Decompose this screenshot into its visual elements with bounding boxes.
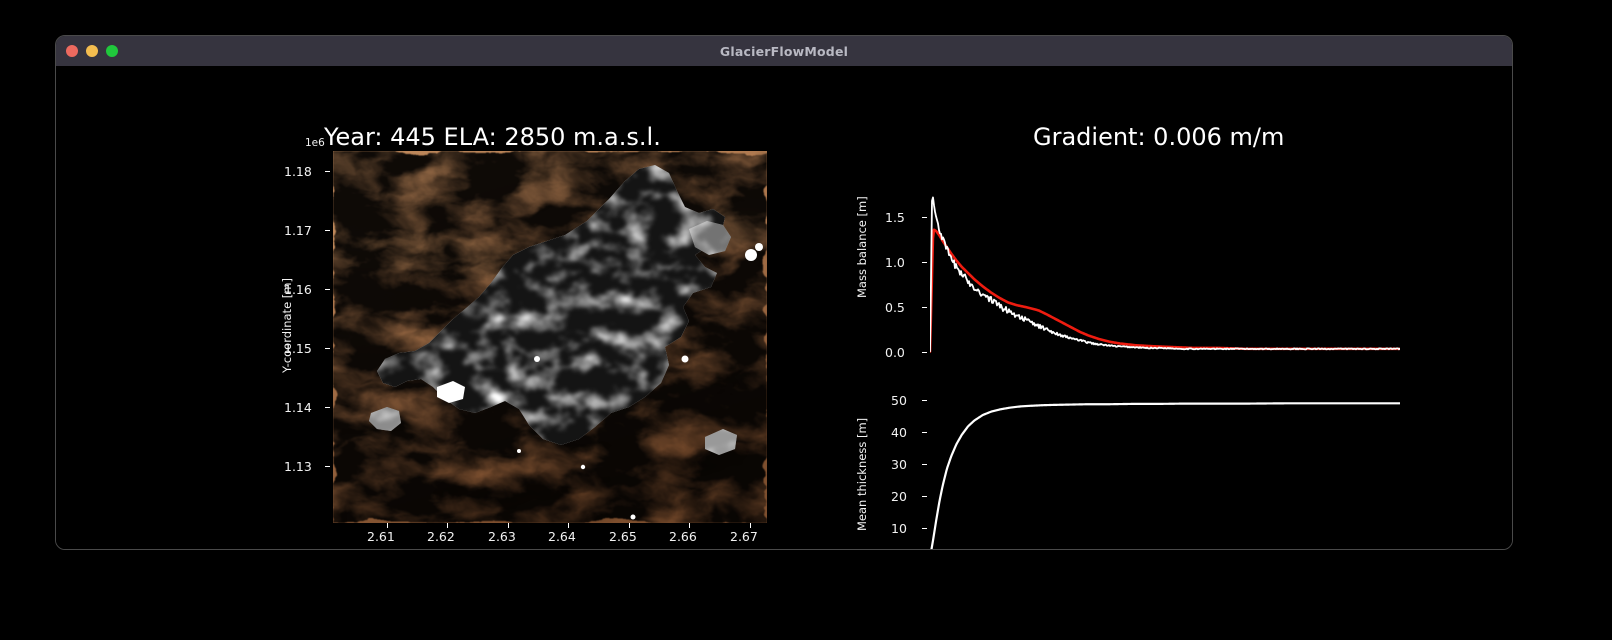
- th-ytick-1: 10: [891, 521, 907, 536]
- mean-thickness-plot-area[interactable]: [930, 395, 1400, 550]
- mean-thickness-svg: [930, 395, 1400, 550]
- mass-balance-panel: Gradient: 0.006 m/m Mass balance [m] 1.5…: [851, 123, 1421, 363]
- map-ytick-mark-1: [325, 230, 330, 231]
- map-ytick-1: 1.17: [284, 223, 312, 238]
- map-x-offset-label: 1e6: [736, 548, 756, 550]
- mb-ytick-mark-1: [922, 307, 927, 308]
- window-title: GlacierFlowModel: [720, 44, 848, 59]
- map-ytick-mark-5: [325, 466, 330, 467]
- th-ytick-mark-1: [922, 528, 927, 529]
- map-ytick-0: 1.18: [284, 164, 312, 179]
- map-xtick-mark-5: [689, 523, 690, 528]
- th-ytick-mark-5: [922, 400, 927, 401]
- th-ytick-mark-4: [922, 432, 927, 433]
- map-xtick-2: 2.63: [488, 529, 516, 544]
- map-xtick-5: 2.66: [669, 529, 697, 544]
- mass-balance-plot-area[interactable]: [930, 191, 1400, 356]
- mb-ytick-mark-3: [922, 217, 927, 218]
- map-ytick-mark-3: [325, 348, 330, 349]
- map-xtick-mark-2: [508, 523, 509, 528]
- mass-balance-ylabel: Mass balance [m]: [855, 196, 869, 298]
- map-y-offset-label: 1e6: [305, 137, 325, 149]
- mean-thickness-ylabel: Mean thickness [m]: [855, 418, 869, 531]
- glacier-map-image[interactable]: [333, 151, 767, 523]
- mb-ytick-2: 1.0: [885, 255, 905, 270]
- map-ylabel: Y-coordinate [m]: [280, 278, 294, 373]
- glacier-map-panel: Year: 445 ELA: 2850 m.a.s.l. 1e6 1.18 1.…: [278, 123, 773, 550]
- map-xtick-mark-4: [629, 523, 630, 528]
- mb-ytick-0: 0.0: [885, 345, 905, 360]
- map-xtick-0: 2.61: [367, 529, 395, 544]
- mb-ytick-mark-0: [922, 352, 927, 353]
- th-ytick-3: 30: [891, 457, 907, 472]
- mb-ytick-3: 1.5: [885, 210, 905, 225]
- map-xtick-4: 2.65: [609, 529, 637, 544]
- window-titlebar[interactable]: GlacierFlowModel: [56, 36, 1512, 66]
- th-ytick-5: 50: [891, 393, 907, 408]
- map-xtick-mark-0: [387, 523, 388, 528]
- map-xtick-3: 2.64: [548, 529, 576, 544]
- close-window-button[interactable]: [66, 45, 78, 57]
- th-ytick-2: 20: [891, 489, 907, 504]
- mean-thickness-panel: Mean thickness [m] 50 40 30 20 10 0: [851, 371, 1421, 550]
- th-ytick-mark-3: [922, 464, 927, 465]
- minimize-window-button[interactable]: [86, 45, 98, 57]
- terrain-hillshade-svg: [333, 151, 767, 523]
- map-xtick-1: 2.62: [427, 529, 455, 544]
- map-ytick-mark-2: [325, 289, 330, 290]
- gradient-title: Gradient: 0.006 m/m: [1033, 123, 1284, 151]
- map-title: Year: 445 ELA: 2850 m.a.s.l.: [324, 123, 661, 151]
- th-ytick-mark-2: [922, 496, 927, 497]
- figure-canvas: Year: 445 ELA: 2850 m.a.s.l. 1e6 1.18 1.…: [56, 66, 1512, 550]
- mean-thickness-line: [930, 403, 1400, 550]
- application-window: GlacierFlowModel Year: 445 ELA: 2850 m.a…: [55, 35, 1513, 550]
- maximize-window-button[interactable]: [106, 45, 118, 57]
- mb-ytick-mark-2: [922, 262, 927, 263]
- th-ytick-4: 40: [891, 425, 907, 440]
- map-xtick-6: 2.67: [730, 529, 758, 544]
- mass-balance-smoothed-line: [930, 230, 1400, 352]
- map-xtick-mark-3: [568, 523, 569, 528]
- map-xlabel: X-coordinate [m]: [490, 548, 587, 550]
- map-xtick-mark-6: [750, 523, 751, 528]
- mass-balance-svg: [930, 191, 1400, 356]
- mass-balance-noisy-line: [930, 197, 1400, 351]
- screen-root: GlacierFlowModel Year: 445 ELA: 2850 m.a…: [0, 0, 1612, 640]
- map-ytick-4: 1.14: [284, 400, 312, 415]
- map-ytick-5: 1.13: [284, 459, 312, 474]
- map-ytick-mark-4: [325, 407, 330, 408]
- map-ytick-mark-0: [325, 171, 330, 172]
- window-controls: [66, 36, 118, 66]
- mb-ytick-1: 0.5: [885, 300, 905, 315]
- map-xtick-mark-1: [447, 523, 448, 528]
